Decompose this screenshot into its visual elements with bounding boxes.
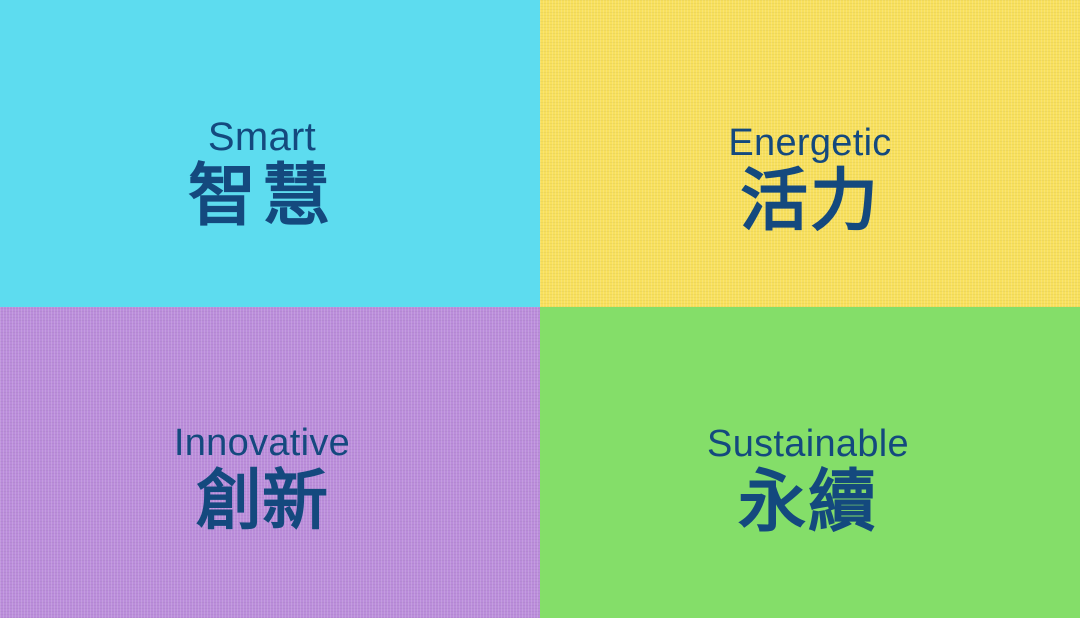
brand-values-poster: Smart 智慧 Energetic 活力 Innovative 創新 Sust…	[0, 0, 1080, 618]
quadrant-smart: Smart 智慧	[0, 0, 540, 307]
quadrant-sustainable-textblock: Sustainable 永續	[707, 425, 909, 537]
quadrant-energetic-textblock: Energetic 活力	[728, 124, 891, 236]
quadrant-energetic-label-cjk: 活力	[740, 168, 880, 236]
quadrant-smart-label-cjk: 智慧	[188, 163, 336, 231]
quadrant-energetic: Energetic 活力	[540, 0, 1080, 307]
quadrant-innovative-label-en: Innovative	[174, 424, 350, 462]
quadrant-innovative-label-cjk: 創新	[196, 468, 328, 534]
quadrant-innovative-textblock: Innovative 創新	[174, 424, 350, 534]
quadrant-smart-textblock: Smart 智慧	[188, 117, 336, 231]
quadrant-innovative: Innovative 創新	[0, 307, 540, 618]
quadrant-sustainable-label-en: Sustainable	[707, 425, 909, 463]
quadrant-sustainable-label-cjk: 永續	[738, 469, 878, 537]
quadrant-energetic-label-en: Energetic	[728, 124, 891, 162]
quadrant-smart-label-en: Smart	[208, 117, 316, 157]
quadrant-sustainable: Sustainable 永續	[540, 307, 1080, 618]
